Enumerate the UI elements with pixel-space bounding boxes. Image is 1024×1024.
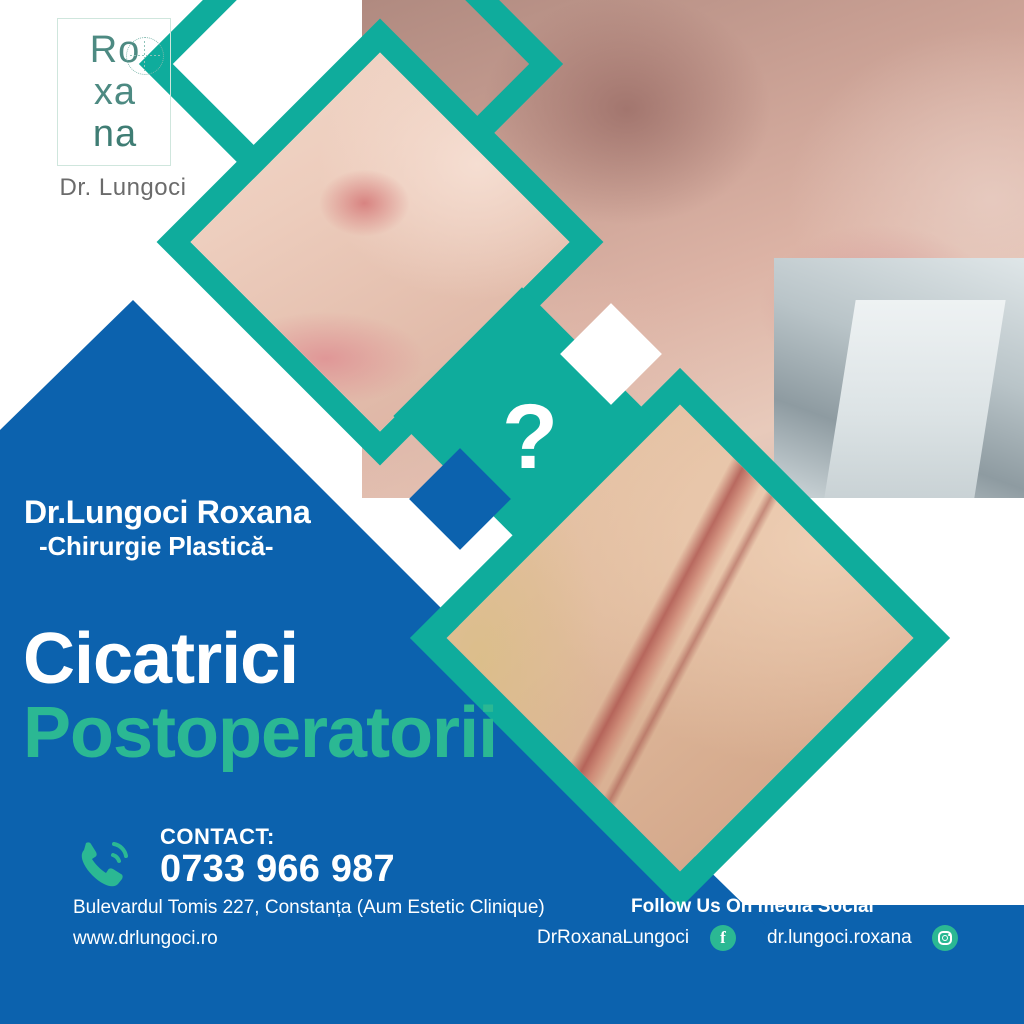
compass-rose-icon	[126, 37, 164, 75]
instagram-handle[interactable]: dr.lungoci.roxana	[767, 927, 912, 949]
poster-canvas: ? Ro xa na Dr. Lungoci Dr.Lungoci Roxana…	[0, 0, 1024, 1024]
title-line-2: Postoperatorii	[23, 692, 497, 774]
instagram-dot	[948, 934, 951, 937]
contact-label: CONTACT:	[160, 824, 275, 850]
logo-doctor-name: Dr. Lungoci	[33, 174, 213, 202]
photo-lab-coat	[824, 300, 1005, 498]
clinic-address: Bulevardul Tomis 227, Constanța (Aum Est…	[73, 897, 545, 919]
website-link[interactable]: www.drlungoci.ro	[73, 928, 218, 950]
doctor-name: Dr.Lungoci Roxana	[24, 494, 311, 531]
title-line-1: Cicatrici	[23, 618, 298, 700]
facebook-glyph: f	[710, 925, 736, 951]
facebook-icon[interactable]: f	[710, 925, 736, 951]
facebook-handle[interactable]: DrRoxanaLungoci	[537, 927, 689, 949]
instagram-lens	[942, 935, 948, 941]
question-mark-icon: ?	[470, 378, 590, 498]
logo-frame: Ro xa na	[57, 18, 171, 166]
logo-line-xa: xa	[58, 71, 172, 114]
phone-call-icon	[70, 830, 140, 900]
instagram-icon[interactable]	[932, 925, 958, 951]
phone-number[interactable]: 0733 966 987	[160, 848, 395, 891]
specialty-label: -Chirurgie Plastică-	[39, 531, 273, 562]
brand-logo: Ro xa na Dr. Lungoci	[33, 14, 213, 204]
logo-line-na: na	[58, 113, 172, 156]
follow-us-title: Follow Us On media Social	[631, 896, 874, 918]
